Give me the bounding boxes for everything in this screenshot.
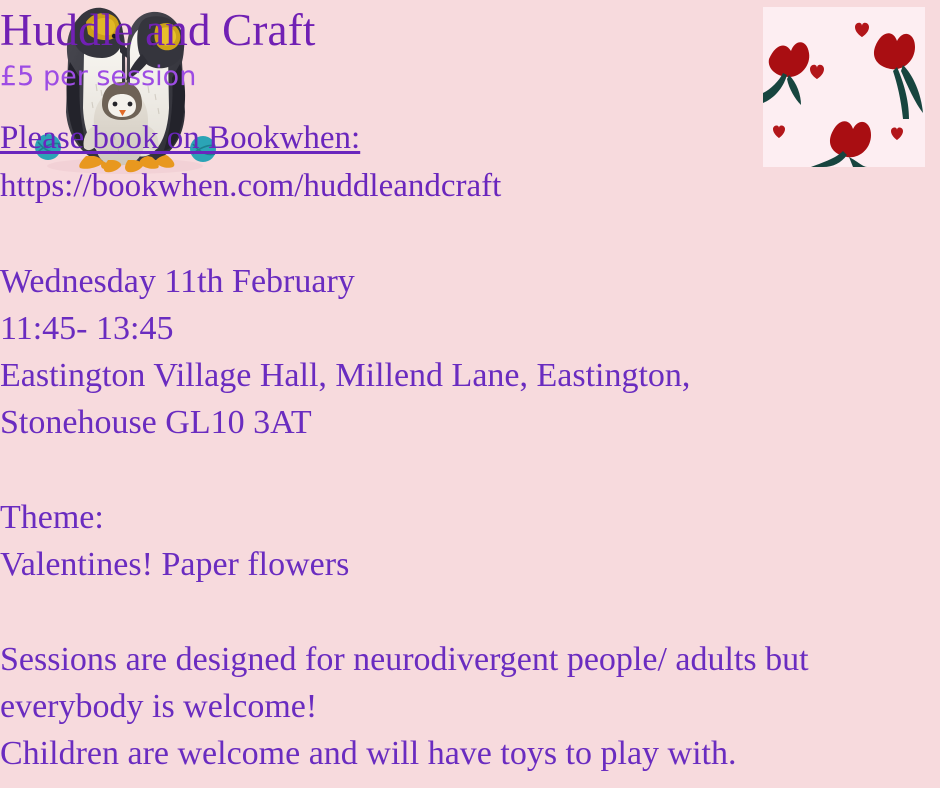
- booking-url[interactable]: https://bookwhen.com/huddleandcraft: [0, 165, 940, 207]
- theme-label: Theme:: [0, 494, 940, 541]
- notes-section: Sessions are designed for neurodivergent…: [0, 636, 940, 777]
- session-details: Wednesday 11th February 11:45- 13:45 Eas…: [0, 258, 940, 446]
- detail-venue-line-1: Eastington Village Hall, Millend Lane, E…: [0, 352, 940, 399]
- theme-value: Valentines! Paper flowers: [0, 541, 940, 588]
- detail-time: 11:45- 13:45: [0, 305, 940, 352]
- page-title: Huddle and Craft: [0, 4, 940, 56]
- booking-prompt: Please book on Bookwhen:: [0, 117, 940, 159]
- detail-date: Wednesday 11th February: [0, 258, 940, 305]
- note-line-2: everybody is welcome!: [0, 683, 940, 730]
- price-line: £5 per session: [0, 60, 940, 94]
- note-line-3: Children are welcome and will have toys …: [0, 730, 940, 777]
- note-line-1: Sessions are designed for neurodivergent…: [0, 636, 940, 683]
- theme-section: Theme: Valentines! Paper flowers: [0, 494, 940, 588]
- booking-prompt-text: Please book on Bookwhen:: [0, 120, 360, 156]
- poster-canvas: Huddle and Craft £5 per session Please b…: [0, 0, 940, 788]
- detail-venue-line-2: Stonehouse GL10 3AT: [0, 399, 940, 446]
